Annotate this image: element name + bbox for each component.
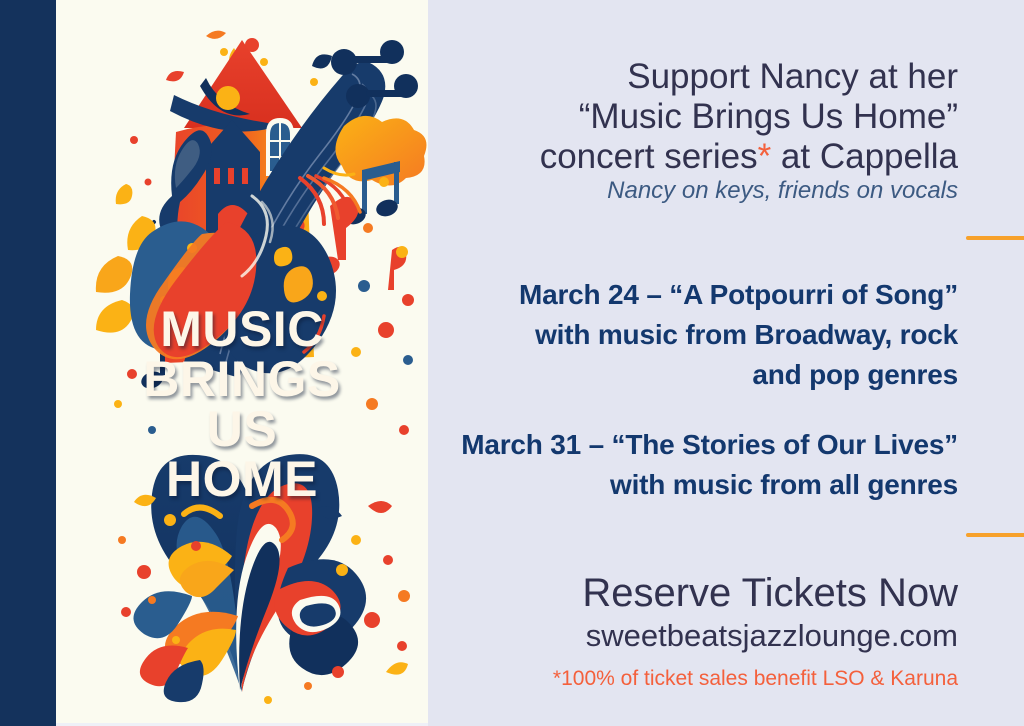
poster-card: MUSIC BRINGS US HOME bbox=[56, 0, 428, 723]
event-march-31: March 31 – “The Stories of Our Lives” wi… bbox=[448, 425, 958, 505]
left-navy-band bbox=[0, 0, 56, 726]
event-1-title: March 24 – “A Potpourri of Song” bbox=[448, 275, 958, 315]
headline-line-1: Support Nancy at her bbox=[448, 57, 958, 97]
subheadline: Nancy on keys, friends on vocals bbox=[448, 176, 958, 206]
reserve-tickets-heading: Reserve Tickets Now bbox=[448, 570, 958, 616]
poster-artwork bbox=[56, 0, 428, 723]
headline-line-3-before: concert series bbox=[540, 137, 758, 176]
event-2-detail-1: with music from all genres bbox=[448, 465, 958, 505]
divider-bottom bbox=[966, 533, 1024, 537]
info-panel: Support Nancy at her “Music Brings Us Ho… bbox=[428, 0, 1024, 726]
flyer-root: MUSIC BRINGS US HOME Support Nancy at he… bbox=[0, 0, 1024, 726]
headline-line-2: “Music Brings Us Home” bbox=[448, 97, 958, 137]
headline-line-3: concert series* at Cappella bbox=[448, 137, 958, 177]
divider-top bbox=[966, 236, 1024, 240]
headline-line-3-after: at Cappella bbox=[771, 137, 958, 176]
event-march-24: March 24 – “A Potpourri of Song” with mu… bbox=[448, 275, 958, 395]
event-2-title: March 31 – “The Stories of Our Lives” bbox=[448, 425, 958, 465]
headline: Support Nancy at her “Music Brings Us Ho… bbox=[448, 57, 958, 177]
website-link[interactable]: sweetbeatsjazzlounge.com bbox=[448, 618, 958, 654]
event-1-detail-1: with music from Broadway, rock bbox=[448, 315, 958, 355]
footnote-asterisk: * bbox=[758, 137, 772, 176]
event-1-detail-2: and pop genres bbox=[448, 355, 958, 395]
footnote-text: *100% of ticket sales benefit LSO & Karu… bbox=[448, 666, 958, 692]
